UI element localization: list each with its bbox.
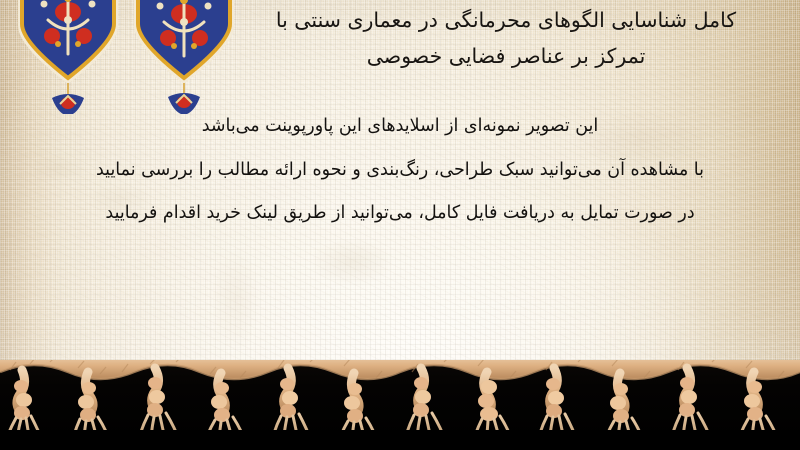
slide-title: کامل شناسایی الگوهای محرمانگی در معماری … (228, 2, 784, 75)
slide-canvas: کامل شناسایی الگوهای محرمانگی در معماری … (0, 0, 800, 450)
slide-bottom-edge (0, 430, 800, 450)
body-line-3: در صورت تمایل به دریافت فایل کامل، می‌تو… (31, 191, 768, 235)
persian-medallion-icon-secondary (130, 0, 238, 118)
slide-body: این تصویر نمونه‌ای از اسلایدهای این پاور… (20, 104, 780, 235)
title-line-2: تمرکز بر عناصر فضایی خصوصی (228, 38, 784, 74)
title-line-1: کامل شناسایی الگوهای محرمانگی در معماری … (228, 2, 784, 38)
body-line-2: با مشاهده آن می‌توانید سبک طراحی، رنگ‌بن… (31, 148, 768, 192)
body-line-1: این تصویر نمونه‌ای از اسلایدهای این پاور… (31, 104, 768, 148)
persian-medallion-icon (14, 0, 122, 118)
